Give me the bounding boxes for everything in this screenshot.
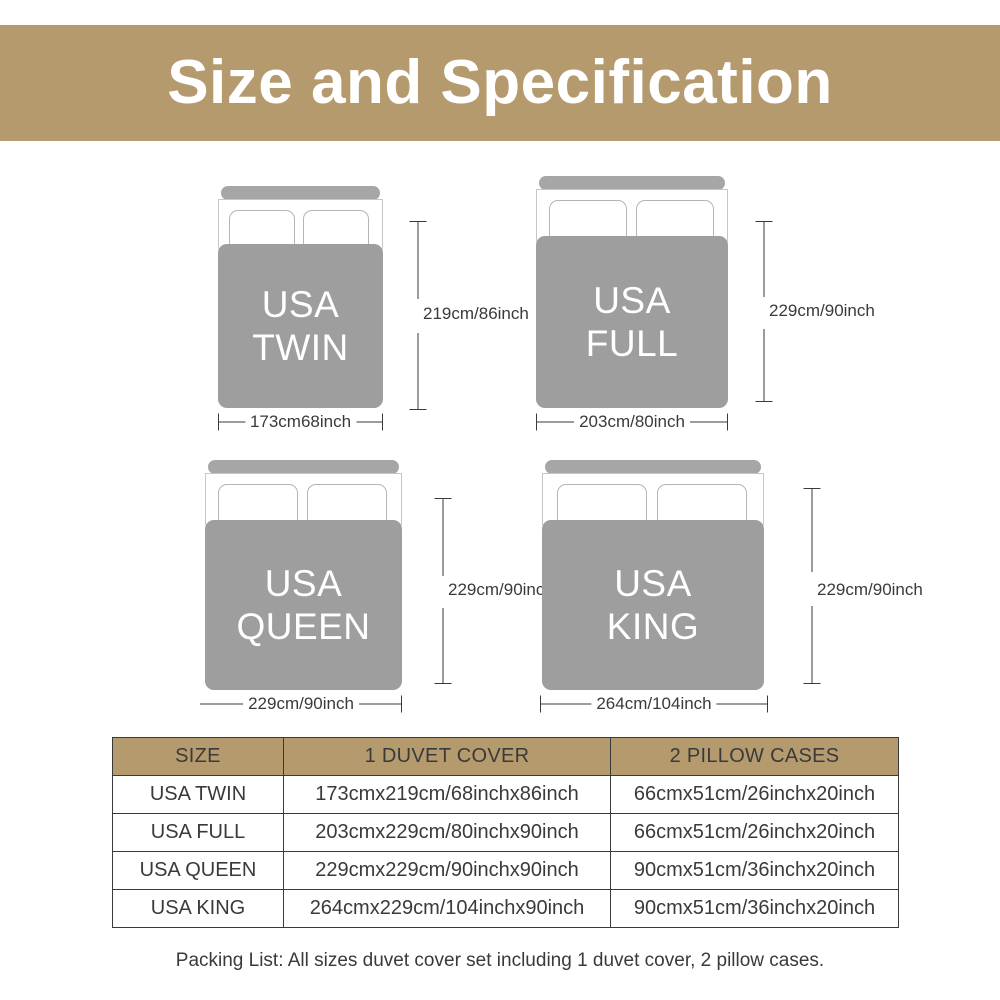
dim-segment-upper (764, 221, 765, 297)
spec-sheet-page: Size and Specification USA TWIN 219cm/86… (0, 0, 1000, 1000)
cell-pillow: 66cmx51cm/26inchx20inch (611, 814, 899, 852)
cell-pillow: 66cmx51cm/26inchx20inch (611, 776, 899, 814)
dim-segment-lower (764, 329, 765, 401)
bed-label-line-2: TWIN (252, 326, 349, 369)
column-header-pillow: 2 PILLOW CASES (611, 738, 899, 776)
bed-illustration-usa-full: USA FULL (536, 176, 728, 408)
height-dimension-label-usa-king: 229cm/90inch (817, 580, 923, 600)
width-dimension-label-usa-king: 264cm/104inch (591, 694, 716, 714)
dim-cap-right (727, 414, 728, 431)
headboard (545, 460, 761, 474)
dim-cap-bottom (410, 409, 427, 410)
bed-figure-usa-king: USA KING 229cm/90inch 264cm/104inch (542, 460, 882, 715)
dim-cap-bottom (435, 683, 452, 684)
width-dimension-usa-queen: 229cm/90inch (200, 694, 402, 714)
table-body: USA TWIN 173cmx219cm/68inchx86inch 66cmx… (113, 776, 899, 928)
cell-size: USA FULL (113, 814, 284, 852)
cell-pillow: 90cmx51cm/36inchx20inch (611, 852, 899, 890)
table-row: USA QUEEN 229cmx229cm/90inchx90inch 90cm… (113, 852, 899, 890)
dim-segment-upper (443, 498, 444, 576)
dim-segment-lower (812, 606, 813, 683)
width-dimension-label-usa-queen: 229cm/90inch (243, 694, 359, 714)
bed-label-line-1: USA (593, 279, 671, 322)
dim-cap-right (767, 696, 768, 713)
height-dimension-label-usa-twin: 219cm/86inch (423, 304, 529, 324)
header-band: Size and Specification (0, 25, 1000, 141)
bed-figure-usa-queen: USA QUEEN 229cm/90inch 229cm/90inch (205, 460, 515, 715)
bed-illustration-usa-twin: USA TWIN (218, 186, 383, 408)
column-header-duvet: 1 DUVET COVER (284, 738, 611, 776)
headboard (221, 186, 380, 200)
dim-segment-upper (812, 488, 813, 572)
duvet-body: USA QUEEN (205, 520, 402, 690)
table-header-row: SIZE 1 DUVET COVER 2 PILLOW CASES (113, 738, 899, 776)
table-row: USA TWIN 173cmx219cm/68inchx86inch 66cmx… (113, 776, 899, 814)
headboard (208, 460, 399, 474)
bed-label-line-1: USA (265, 562, 343, 605)
cell-size: USA KING (113, 890, 284, 928)
cell-size: USA QUEEN (113, 852, 284, 890)
headboard (539, 176, 725, 190)
dim-cap-right (401, 696, 402, 713)
height-dimension-label-usa-queen: 229cm/90inch (448, 580, 554, 600)
cell-duvet: 173cmx219cm/68inchx86inch (284, 776, 611, 814)
duvet-body: USA KING (542, 520, 764, 690)
cell-size: USA TWIN (113, 776, 284, 814)
dim-segment-upper (418, 221, 419, 299)
table-row: USA FULL 203cmx229cm/80inchx90inch 66cmx… (113, 814, 899, 852)
duvet-body: USA FULL (536, 236, 728, 408)
duvet-body: USA TWIN (218, 244, 383, 408)
width-dimension-label-usa-twin: 173cm68inch (245, 412, 356, 432)
specification-table: SIZE 1 DUVET COVER 2 PILLOW CASES USA TW… (112, 737, 899, 928)
dim-cap-right (382, 414, 383, 431)
bed-label-line-2: QUEEN (236, 605, 370, 648)
bed-label-line-1: USA (262, 283, 340, 326)
dim-segment-lower (418, 333, 419, 409)
bed-illustration-usa-queen: USA QUEEN (205, 460, 402, 690)
table-row: USA KING 264cmx229cm/104inchx90inch 90cm… (113, 890, 899, 928)
packing-list-note: Packing List: All sizes duvet cover set … (0, 950, 1000, 972)
width-dimension-usa-king: 264cm/104inch (540, 694, 768, 714)
table-header: SIZE 1 DUVET COVER 2 PILLOW CASES (113, 738, 899, 776)
bed-figure-usa-full: USA FULL 229cm/90inch 203cm/80inch (536, 176, 836, 436)
dim-cap-bottom (804, 683, 821, 684)
width-dimension-usa-twin: 173cm68inch (218, 412, 383, 432)
column-header-size: SIZE (113, 738, 284, 776)
dim-segment-lower (443, 608, 444, 683)
cell-duvet: 203cmx229cm/80inchx90inch (284, 814, 611, 852)
cell-duvet: 229cmx229cm/90inchx90inch (284, 852, 611, 890)
cell-pillow: 90cmx51cm/36inchx20inch (611, 890, 899, 928)
bed-label-line-2: KING (607, 605, 699, 648)
width-dimension-usa-full: 203cm/80inch (536, 412, 728, 432)
height-dimension-label-usa-full: 229cm/90inch (769, 301, 875, 321)
page-title: Size and Specification (167, 52, 833, 114)
bed-illustration-usa-king: USA KING (542, 460, 764, 690)
cell-duvet: 264cmx229cm/104inchx90inch (284, 890, 611, 928)
dim-cap-bottom (756, 401, 773, 402)
bed-figure-usa-twin: USA TWIN 219cm/86inch 173cm68inch (218, 186, 478, 436)
width-dimension-label-usa-full: 203cm/80inch (574, 412, 690, 432)
bed-label-line-2: FULL (586, 322, 678, 365)
bed-label-line-1: USA (614, 562, 692, 605)
